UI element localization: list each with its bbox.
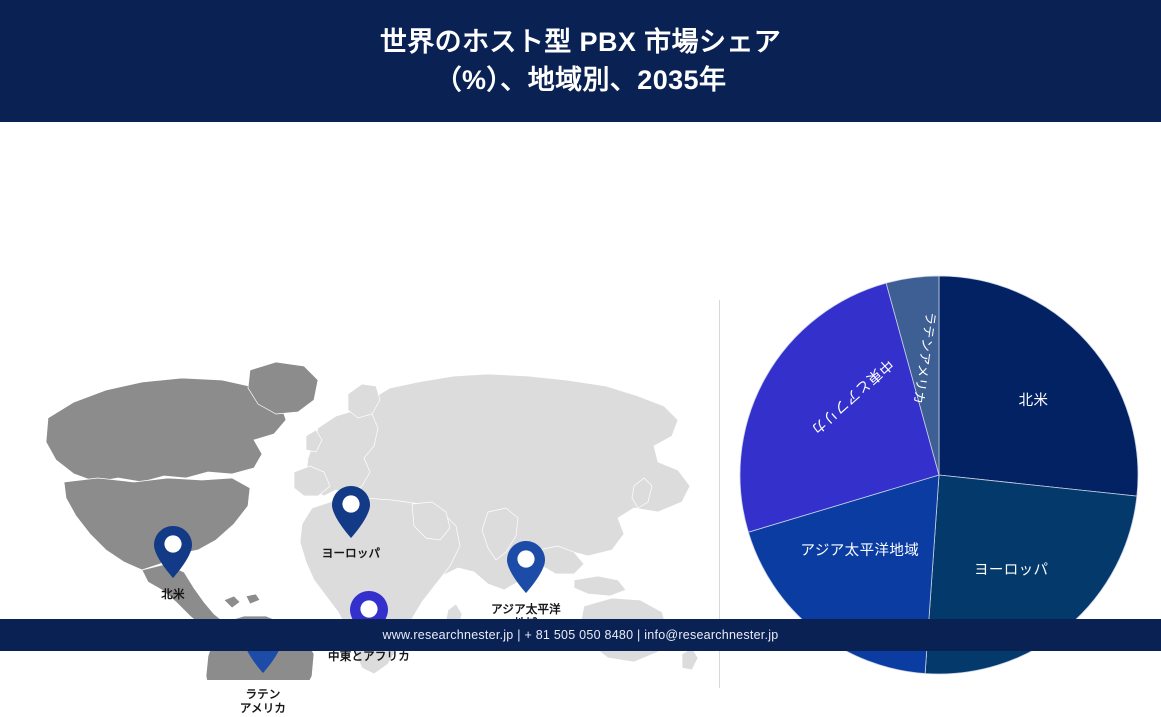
world-map-panel: 北米 ヨーロッパ アジア太平洋 地域 中東とアフリカ	[18, 250, 708, 680]
footer-contact-text: www.researchnester.jp | + 81 505 050 848…	[383, 628, 779, 642]
location-pin-icon	[505, 539, 547, 595]
map-pin-label-middle-east-africa: 中東とアフリカ	[328, 650, 410, 664]
map-pin-north-america[interactable]	[152, 524, 194, 580]
map-pin-label-north-america: 北米	[161, 588, 184, 602]
page-header: 世界のホスト型 PBX 市場シェア （%）、地域別、2035年	[0, 0, 1161, 122]
page-footer: www.researchnester.jp | + 81 505 050 848…	[0, 619, 1161, 651]
pie-slice-label-2: アジア太平洋地域	[801, 542, 920, 559]
location-pin-icon	[330, 484, 372, 540]
content-area: 北米 ヨーロッパ アジア太平洋 地域 中東とアフリカ	[0, 122, 1161, 619]
map-pin-label-europe: ヨーロッパ	[322, 547, 381, 561]
location-pin-icon	[152, 524, 194, 580]
page-title: 世界のホスト型 PBX 市場シェア （%）、地域別、2035年	[380, 23, 781, 100]
map-pin-europe[interactable]	[330, 484, 372, 540]
market-share-pie-chart: 北米ヨーロッパアジア太平洋地域中東とアフリカラテンアメリカ	[730, 250, 1150, 680]
map-pin-label-latin-america: ラテン アメリカ	[240, 688, 286, 717]
pie-slice-label-0: 北米	[1019, 392, 1049, 409]
map-pin-asia-pacific[interactable]	[505, 539, 547, 595]
pie-slice-label-1: ヨーロッパ	[974, 562, 1049, 579]
pie-slice-0[interactable]	[939, 276, 1138, 496]
pie-chart-panel: 北米ヨーロッパアジア太平洋地域中東とアフリカラテンアメリカ	[730, 250, 1150, 680]
